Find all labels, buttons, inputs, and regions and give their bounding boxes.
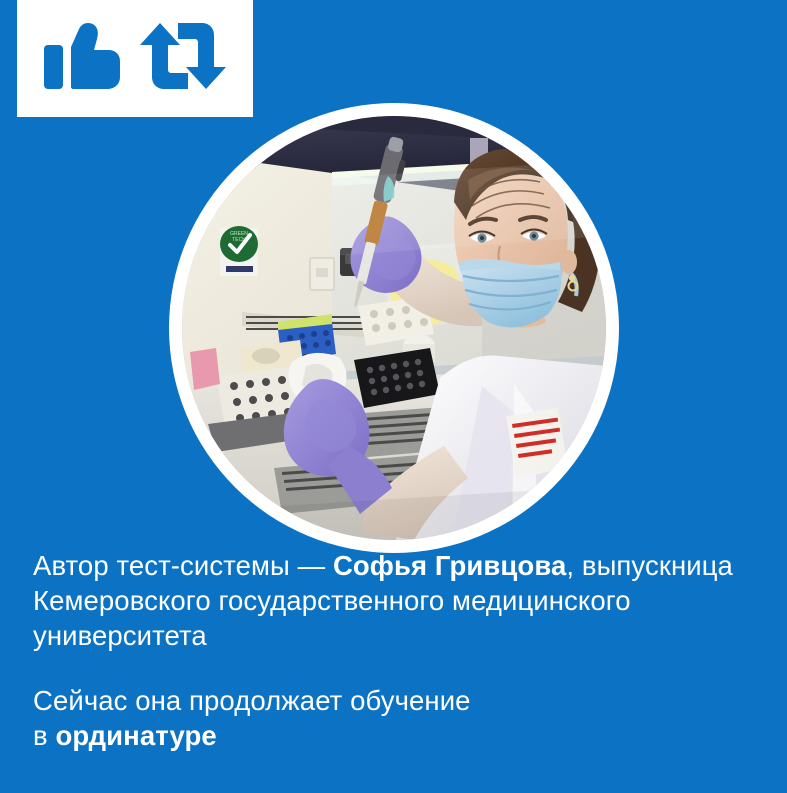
caption-paragraph-2: Сейчас она продолжает обучениев ординату…: [33, 683, 757, 753]
photo-ring: GREEN TECH: [169, 103, 619, 553]
caption-p1-comma: ,: [566, 550, 574, 581]
caption-p1-lead: Автор тест-системы —: [33, 550, 333, 581]
logo-badge: [17, 0, 253, 117]
caption-highlight-residency: ординатуре: [55, 720, 216, 751]
social-media-card: GREEN TECH: [0, 0, 787, 793]
caption-p2-lead: в: [33, 720, 55, 751]
caption-paragraph-1: Автор тест-системы — Софья Гривцова, вып…: [33, 548, 757, 653]
lab-photo: GREEN TECH: [182, 116, 606, 540]
caption-p2-line1: Сейчас она продолжает обучение: [33, 685, 471, 716]
caption-block: Автор тест-системы — Софья Гривцова, вып…: [33, 548, 757, 753]
svg-text:TECH: TECH: [232, 237, 246, 243]
thumbs-up-icon: [44, 23, 122, 94]
caption-person-name: Софья Гривцова: [333, 550, 566, 581]
repost-icon: [140, 23, 226, 94]
